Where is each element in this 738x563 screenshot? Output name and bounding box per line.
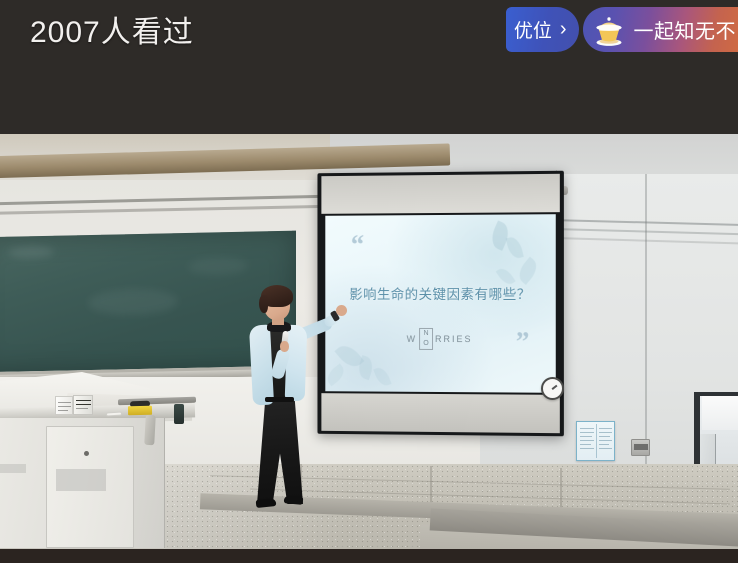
cabinet-lock-icon [84, 451, 89, 456]
page-header: 2007人看过 优位 › [0, 0, 738, 134]
classroom-lecture-video[interactable]: “ 影响生命的关键因素有哪些？ W N O RRIES ” [0, 134, 738, 549]
logo-letters-rries: RRIES [435, 334, 473, 344]
desk-box-1 [55, 396, 73, 415]
promo-badge-row: 优位 › 一起知无不 [506, 7, 738, 52]
bottom-letterbox-band [0, 549, 738, 563]
promo-badge-gradient-label: 一起知无不 [634, 15, 738, 44]
podium-handle [144, 415, 156, 445]
screen-top-bar [321, 174, 559, 214]
slide-quote-close-icon: ” [516, 330, 530, 352]
wall-control-box [631, 439, 650, 456]
presenter-shoe-right [284, 495, 304, 505]
slide-title: 影响生命的关键因素有哪些？ [325, 283, 555, 303]
presenter-mic-hand [280, 341, 289, 352]
door-transom-glass [702, 396, 738, 430]
promo-badge-blue-label: 优位 [514, 16, 552, 43]
logo-letter-n: N [424, 330, 429, 338]
wall-clock [541, 377, 564, 400]
logo-no-box: N O [419, 328, 433, 350]
wall-corner [645, 174, 647, 474]
cabinet-label [56, 469, 106, 491]
chalk-tray [128, 406, 152, 415]
chevron-right-icon: › [560, 18, 567, 41]
podium-dark-device [174, 404, 184, 424]
presenter-shoe-left [256, 498, 277, 508]
desk-box-2 [73, 395, 93, 415]
presenter-trousers [257, 399, 303, 504]
presenter-raised-hand [336, 305, 347, 316]
presenter-speaker [240, 289, 350, 514]
promo-badge-gradient[interactable]: 一起知无不 [583, 7, 738, 52]
presenter-hair-side [259, 295, 268, 313]
slide-canvas: “ 影响生命的关键因素有哪些？ W N O RRIES ” [325, 214, 555, 393]
promo-badge-blue[interactable]: 优位 › [506, 7, 579, 52]
presenter-cardigan-left [249, 325, 274, 406]
wall-notice-poster [576, 421, 615, 461]
logo-letter-o: O [423, 340, 428, 348]
view-count-label: 2007人看过 [30, 12, 194, 54]
cabinet-label-left [0, 464, 26, 473]
desk-marker [106, 412, 122, 417]
slide-quote-open-icon: “ [351, 233, 364, 255]
presenter-belt [265, 397, 294, 402]
video-page-root: 2007人看过 优位 › [0, 0, 738, 563]
teacup-icon [589, 12, 629, 48]
projection-screen: “ 影响生命的关键因素有哪些？ W N O RRIES ” [317, 171, 563, 437]
logo-letter-w: W [407, 334, 417, 344]
screen-bottom-bar [321, 393, 559, 433]
